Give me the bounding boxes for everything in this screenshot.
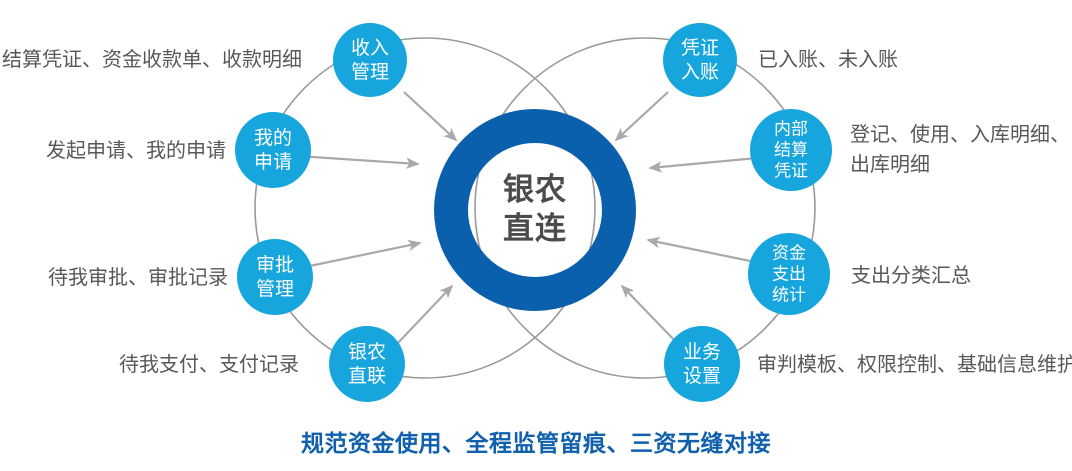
node-circle[interactable] <box>235 112 311 188</box>
node-bank-farm-direct[interactable]: 银农 直联 <box>329 326 405 402</box>
description-income-management: 结算凭证、资金收款单、收款明细 <box>2 45 302 75</box>
node-label-line3: 凭证 <box>774 161 808 180</box>
description-approval-management: 待我审批、审批记录 <box>48 263 248 293</box>
node-circle[interactable] <box>237 239 313 315</box>
right-background-circle <box>475 38 815 378</box>
arrow-voucher-entry <box>616 92 668 140</box>
node-label-line1: 业务 <box>683 341 721 363</box>
node-label-line2: 支出 <box>772 264 806 283</box>
arrow-my-application <box>297 156 418 164</box>
node-income-management[interactable]: 收入 管理 <box>333 23 407 97</box>
left-background-circle <box>255 38 595 378</box>
hub-title-line1: 银农 <box>503 172 567 207</box>
hub-ring <box>451 126 619 294</box>
node-label-line2: 设置 <box>683 365 721 387</box>
diagram-caption: 规范资金使用、全程监管留痕、三资无缝对接 <box>0 424 1072 458</box>
node-circle[interactable] <box>333 23 407 97</box>
node-voucher-entry[interactable]: 凭证 入账 <box>663 23 737 97</box>
node-label-line2: 管理 <box>256 278 294 300</box>
arrow-business-settings <box>622 286 678 344</box>
description-my-application: 发起申请、我的申请 <box>46 136 246 166</box>
background-arcs <box>255 38 815 378</box>
description-bank-farm-direct: 待我支付、支付记录 <box>119 350 319 380</box>
node-label-line3: 统计 <box>772 285 806 304</box>
diagram-canvas: 银农 直连 收入 管理 我的 申请 审批 管理 银农 直联 凭证 入 <box>0 0 1072 471</box>
node-label-line1: 内部 <box>774 119 808 138</box>
node-approval-management[interactable]: 审批 管理 <box>237 239 313 315</box>
description-internal-settlement-voucher: 登记、使用、入库明细、 出库明细 <box>850 120 1070 180</box>
arrow-bank-farm-direct <box>396 286 452 345</box>
description-voucher-entry: 已入账、未入账 <box>758 45 998 75</box>
arrow-income-management <box>404 92 456 140</box>
node-fund-expenditure-statistics[interactable]: 资金 支出 统计 <box>748 233 830 315</box>
node-label-line2: 直联 <box>348 365 386 387</box>
arrow-fund-expenditure-statistics <box>648 240 755 262</box>
node-my-application[interactable]: 我的 申请 <box>235 112 311 188</box>
hub-node[interactable]: 银农 直连 <box>451 126 619 294</box>
node-circle[interactable] <box>329 326 405 402</box>
node-label-line1: 资金 <box>772 243 806 262</box>
node-label-line2: 申请 <box>254 151 292 173</box>
node-label-line2: 管理 <box>351 61 389 83</box>
node-label-line1: 银农 <box>348 341 386 363</box>
node-label-line2: 结算 <box>774 140 808 159</box>
node-label-line1: 凭证 <box>681 37 719 59</box>
node-business-settings[interactable]: 业务 设置 <box>664 326 740 402</box>
description-business-settings: 审判模板、权限控制、基础信息维护 <box>757 350 1072 380</box>
description-fund-expenditure-statistics: 支出分类汇总 <box>851 261 1071 291</box>
node-circle[interactable] <box>664 326 740 402</box>
node-label-line2: 入账 <box>681 61 719 83</box>
arrow-approval-management <box>300 243 420 268</box>
hub-title-line2: 直连 <box>503 211 567 246</box>
node-label-line1: 我的 <box>254 127 292 149</box>
node-label-line1: 审批 <box>256 254 294 276</box>
node-circle[interactable] <box>663 23 737 97</box>
arrow-internal-settlement-voucher <box>650 158 757 168</box>
node-internal-settlement-voucher[interactable]: 内部 结算 凭证 <box>750 109 832 191</box>
node-label-line1: 收入 <box>351 37 389 59</box>
